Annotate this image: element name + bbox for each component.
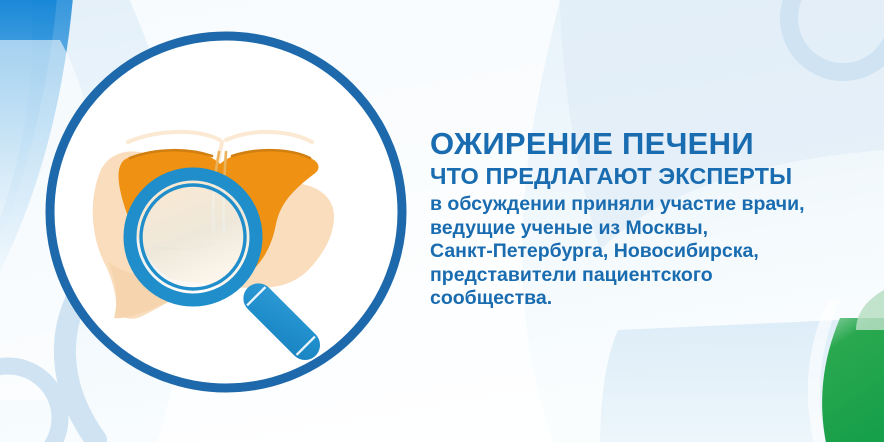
body-line-4: представители пациентского: [430, 264, 860, 288]
banner-root: ОЖИРЕНИЕ ПЕЧЕНИ ЧТО ПРЕДЛАГАЮТ ЭКСПЕРТЫ …: [0, 0, 884, 442]
page-title: ОЖИРЕНИЕ ПЕЧЕНИ: [430, 126, 860, 162]
body-copy: в обсуждении приняли участие врачи, веду…: [430, 193, 860, 311]
body-line-3: Санкт-Петербурга, Новосибирска,: [430, 240, 860, 264]
body-line-2: ведущие ученые из Москвы,: [430, 217, 860, 241]
text-block: ОЖИРЕНИЕ ПЕЧЕНИ ЧТО ПРЕДЛАГАЮТ ЭКСПЕРТЫ …: [430, 126, 860, 311]
body-line-1: в обсуждении приняли участие врачи,: [430, 193, 860, 217]
subtitle: ЧТО ПРЕДЛАГАЮТ ЭКСПЕРТЫ: [430, 162, 860, 191]
body-line-5: сообщества.: [430, 287, 860, 311]
